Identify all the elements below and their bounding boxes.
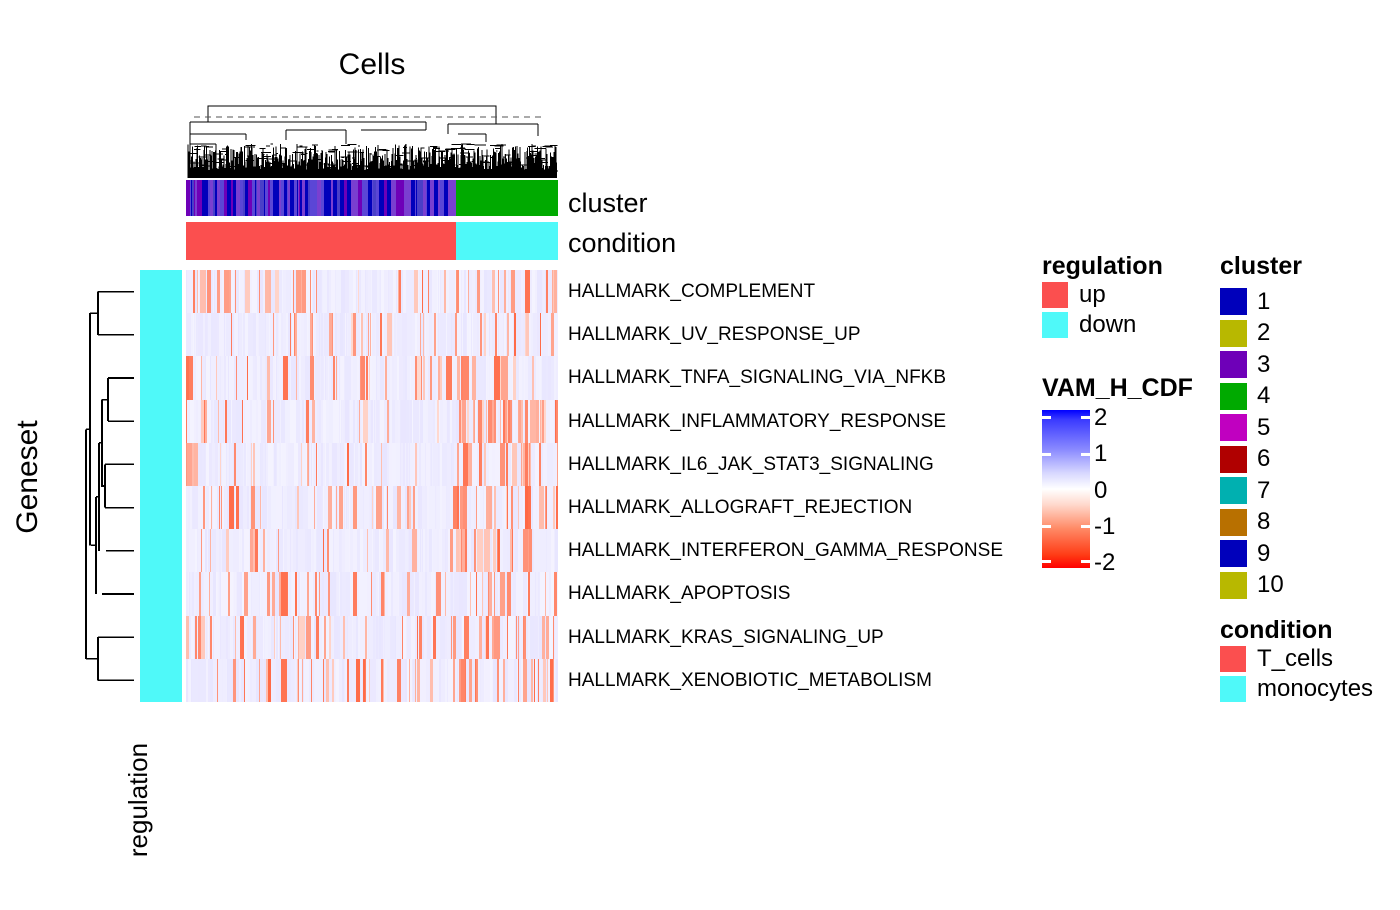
heatmap-row bbox=[186, 486, 558, 529]
cluster-swatch bbox=[1220, 509, 1247, 536]
columns-axis-title: Cells bbox=[186, 48, 558, 82]
row-label: HALLMARK_IL6_JAK_STAT3_SIGNALING bbox=[568, 443, 1068, 486]
regulation-up-label: up bbox=[1079, 281, 1106, 309]
row-label: HALLMARK_TNFA_SIGNALING_VIA_NFKB bbox=[568, 356, 1068, 399]
heatmap-row bbox=[186, 616, 558, 659]
cluster-legend-items: 12345678910 bbox=[1220, 286, 1302, 601]
condition-annotation-bar bbox=[186, 222, 558, 260]
legend-item-cluster-9[interactable]: 9 bbox=[1220, 538, 1302, 570]
row-label: HALLMARK_ALLOGRAFT_REJECTION bbox=[568, 486, 1068, 529]
colorbar-wrapper: 2 1 0 -1 -2 bbox=[1042, 410, 1146, 568]
cluster-legend-label: 7 bbox=[1257, 477, 1270, 505]
cluster-annotation-label: cluster bbox=[568, 188, 648, 219]
legend-item-cluster-3[interactable]: 3 bbox=[1220, 349, 1302, 381]
row-label: HALLMARK_INFLAMMATORY_RESPONSE bbox=[568, 400, 1068, 443]
cluster-swatch bbox=[1220, 351, 1247, 378]
row-label: HALLMARK_INTERFERON_GAMMA_RESPONSE bbox=[568, 529, 1068, 572]
legend-item-cluster-6[interactable]: 6 bbox=[1220, 444, 1302, 476]
regulation-annotation-bar bbox=[140, 270, 182, 702]
cluster-swatch bbox=[1220, 414, 1247, 441]
colorbar-tick-mark bbox=[1042, 416, 1051, 419]
regulation-down-swatch bbox=[1042, 312, 1068, 338]
legend-item-cluster-5[interactable]: 5 bbox=[1220, 412, 1302, 444]
row-label: HALLMARK_XENOBIOTIC_METABOLISM bbox=[568, 659, 1068, 702]
row-dendrogram bbox=[72, 270, 134, 702]
legend-item-cluster-1[interactable]: 1 bbox=[1220, 286, 1302, 318]
cluster-legend-label: 10 bbox=[1257, 571, 1284, 599]
legend-item-up[interactable]: up bbox=[1042, 280, 1163, 310]
cluster-legend-title: cluster bbox=[1220, 252, 1302, 280]
cluster-legend: cluster 12345678910 bbox=[1220, 252, 1302, 601]
colorbar-tick-mark bbox=[1081, 453, 1090, 456]
legend-item-cluster-7[interactable]: 7 bbox=[1220, 475, 1302, 507]
legend-item-cluster-4[interactable]: 4 bbox=[1220, 381, 1302, 413]
colorbar-tick-mark bbox=[1042, 525, 1051, 528]
colorbar-tick-1: 1 bbox=[1094, 442, 1107, 466]
legend-item-cluster-10[interactable]: 10 bbox=[1220, 570, 1302, 602]
regulation-up-swatch bbox=[1042, 282, 1068, 308]
colorbar-gradient bbox=[1042, 410, 1090, 568]
condition-annotation-label: condition bbox=[568, 228, 676, 259]
regulation-down-label: down bbox=[1079, 311, 1136, 339]
row-label: HALLMARK_KRAS_SIGNALING_UP bbox=[568, 616, 1068, 659]
cluster-swatch bbox=[1220, 446, 1247, 473]
colorbar-tick-2: 2 bbox=[1094, 406, 1107, 430]
colorbar-tick-mark bbox=[1042, 453, 1051, 456]
cluster-swatch bbox=[1220, 320, 1247, 347]
cluster-legend-label: 3 bbox=[1257, 351, 1270, 379]
condition-monocytes-label: monocytes bbox=[1257, 675, 1373, 703]
heatmap-row bbox=[186, 313, 558, 356]
condition-monocytes-swatch bbox=[1220, 676, 1246, 702]
cluster-swatch bbox=[1220, 477, 1247, 504]
row-label: HALLMARK_COMPLEMENT bbox=[568, 270, 1068, 313]
cluster-legend-label: 6 bbox=[1257, 445, 1270, 473]
cluster-annotation-bar bbox=[186, 180, 558, 216]
condition-legend: condition T_cells monocytes bbox=[1220, 616, 1373, 704]
heatmap-row bbox=[186, 659, 558, 702]
column-dendrogram bbox=[186, 100, 558, 178]
heatmap-row bbox=[186, 356, 558, 399]
legend-item-tcells[interactable]: T_cells bbox=[1220, 644, 1373, 674]
cluster-swatch bbox=[1220, 540, 1247, 567]
colorbar-tick-labels: 2 1 0 -1 -2 bbox=[1094, 410, 1154, 568]
colorbar-tick-mark bbox=[1081, 416, 1090, 419]
colorbar-tick-neg2: -2 bbox=[1094, 551, 1115, 575]
legend-item-cluster-8[interactable]: 8 bbox=[1220, 507, 1302, 539]
colorbar-title: VAM_H_CDF bbox=[1042, 374, 1193, 402]
regulation-legend: regulation up down bbox=[1042, 252, 1163, 340]
cluster-legend-label: 9 bbox=[1257, 540, 1270, 568]
heatmap-row bbox=[186, 443, 558, 486]
heatmap-row bbox=[186, 400, 558, 443]
legend-item-monocytes[interactable]: monocytes bbox=[1220, 674, 1373, 704]
cluster-legend-label: 2 bbox=[1257, 319, 1270, 347]
cluster-swatch bbox=[1220, 383, 1247, 410]
colorbar-tick-mark bbox=[1081, 525, 1090, 528]
colorbar-tick-mark bbox=[1042, 560, 1051, 563]
cluster-legend-label: 8 bbox=[1257, 508, 1270, 536]
condition-tcells-swatch bbox=[1220, 646, 1246, 672]
condition-tcells-label: T_cells bbox=[1257, 645, 1333, 673]
condition-monocytes-block bbox=[456, 222, 558, 260]
heatmap-row bbox=[186, 572, 558, 615]
colorbar-tick-0: 0 bbox=[1094, 479, 1107, 503]
cluster-legend-label: 1 bbox=[1257, 288, 1270, 316]
colorbar-legend: VAM_H_CDF 2 1 0 -1 -2 bbox=[1042, 374, 1193, 568]
legend-item-cluster-2[interactable]: 2 bbox=[1220, 318, 1302, 350]
cluster-swatch bbox=[1220, 288, 1247, 315]
row-annotation-title: regulation bbox=[123, 690, 153, 910]
cluster-legend-label: 5 bbox=[1257, 414, 1270, 442]
regulation-legend-title: regulation bbox=[1042, 252, 1163, 280]
cluster-legend-label: 4 bbox=[1257, 382, 1270, 410]
row-label: HALLMARK_APOPTOSIS bbox=[568, 572, 1068, 615]
condition-legend-title: condition bbox=[1220, 616, 1373, 644]
heatmap-body bbox=[186, 270, 558, 702]
colorbar-tick-mark bbox=[1081, 560, 1090, 563]
cluster-swatch bbox=[1220, 572, 1247, 599]
rows-axis-title: Geneset bbox=[11, 367, 45, 587]
heatmap-row bbox=[186, 270, 558, 313]
row-label-list: HALLMARK_COMPLEMENTHALLMARK_UV_RESPONSE_… bbox=[568, 270, 1068, 702]
heatmap-row bbox=[186, 529, 558, 572]
condition-tcells-block bbox=[186, 222, 456, 260]
row-label: HALLMARK_UV_RESPONSE_UP bbox=[568, 313, 1068, 356]
legend-item-down[interactable]: down bbox=[1042, 310, 1163, 340]
colorbar-tick-neg1: -1 bbox=[1094, 515, 1115, 539]
